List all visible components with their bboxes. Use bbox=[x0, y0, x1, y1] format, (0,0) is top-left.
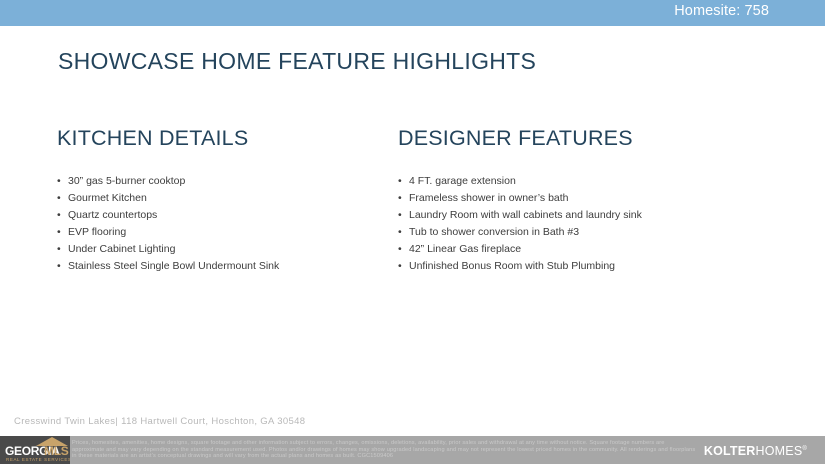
list-item-label: 42” Linear Gas fireplace bbox=[409, 243, 521, 255]
list-item: • Stainless Steel Single Bowl Undermount… bbox=[57, 258, 387, 275]
list-item: • Gourmet Kitchen bbox=[57, 190, 387, 207]
georgia-mls-logo: GEORGIA MLS REAL ESTATE SERVICES bbox=[0, 436, 70, 464]
designer-features-list: • 4 FT. garage extension • Frameless sho… bbox=[398, 173, 758, 275]
bullet-icon: • bbox=[398, 190, 402, 207]
mls-logo-secondary-text: MLS bbox=[44, 445, 68, 457]
top-header-bar: Homesite: 758 bbox=[0, 0, 825, 26]
bullet-icon: • bbox=[57, 207, 61, 224]
bullet-icon: • bbox=[398, 224, 402, 241]
list-item-label: 4 FT. garage extension bbox=[409, 175, 516, 187]
bullet-icon: • bbox=[398, 258, 402, 275]
list-item: • Unfinished Bonus Room with Stub Plumbi… bbox=[398, 258, 758, 275]
bullet-icon: • bbox=[398, 173, 402, 190]
bullet-icon: • bbox=[398, 241, 402, 258]
list-item-label: Laundry Room with wall cabinets and laun… bbox=[409, 209, 642, 221]
list-item: • Frameless shower in owner’s bath bbox=[398, 190, 758, 207]
designer-features-column: DESIGNER FEATURES • 4 FT. garage extensi… bbox=[398, 126, 758, 275]
presentation-slide: Homesite: 758 SHOWCASE HOME FEATURE HIGH… bbox=[0, 0, 825, 464]
kolter-logo-regular-text: HOMES bbox=[756, 444, 803, 458]
bullet-icon: • bbox=[57, 190, 61, 207]
legal-disclaimer: Prices, homesites, amenities, home desig… bbox=[72, 440, 698, 460]
list-item: • Tub to shower conversion in Bath #3 bbox=[398, 224, 758, 241]
list-item: • 42” Linear Gas fireplace bbox=[398, 241, 758, 258]
list-item-label: Tub to shower conversion in Bath #3 bbox=[409, 226, 579, 238]
list-item-label: 30” gas 5-burner cooktop bbox=[68, 175, 185, 187]
page-title: SHOWCASE HOME FEATURE HIGHLIGHTS bbox=[58, 48, 536, 75]
list-item: • 4 FT. garage extension bbox=[398, 173, 758, 190]
list-item: • Quartz countertops bbox=[57, 207, 387, 224]
list-item-label: EVP flooring bbox=[68, 226, 126, 238]
bullet-icon: • bbox=[398, 207, 402, 224]
kitchen-details-column: KITCHEN DETAILS • 30” gas 5-burner cookt… bbox=[57, 126, 387, 275]
list-item-label: Gourmet Kitchen bbox=[68, 192, 147, 204]
list-item: • Laundry Room with wall cabinets and la… bbox=[398, 207, 758, 224]
list-item-label: Quartz countertops bbox=[68, 209, 157, 221]
list-item-label: Under Cabinet Lighting bbox=[68, 243, 175, 255]
list-item-label: Unfinished Bonus Room with Stub Plumbing bbox=[409, 260, 615, 272]
list-item: • 30” gas 5-burner cooktop bbox=[57, 173, 387, 190]
bullet-icon: • bbox=[57, 241, 61, 258]
homesite-label: Homesite: 758 bbox=[674, 3, 769, 19]
kitchen-details-list: • 30” gas 5-burner cooktop • Gourmet Kit… bbox=[57, 173, 387, 275]
list-item: • EVP flooring bbox=[57, 224, 387, 241]
bullet-icon: • bbox=[57, 173, 61, 190]
community-address: Cresswind Twin Lakes| 118 Hartwell Court… bbox=[14, 416, 305, 427]
list-item: • Under Cabinet Lighting bbox=[57, 241, 387, 258]
kolter-homes-logo: KOLTERHOMES® bbox=[704, 444, 807, 458]
mls-logo-tagline: REAL ESTATE SERVICES bbox=[6, 457, 70, 462]
trademark-icon: ® bbox=[802, 446, 807, 452]
bullet-icon: • bbox=[57, 258, 61, 275]
kolter-logo-bold-text: KOLTER bbox=[704, 444, 756, 458]
list-item-label: Stainless Steel Single Bowl Undermount S… bbox=[68, 260, 279, 272]
bullet-icon: • bbox=[57, 224, 61, 241]
list-item-label: Frameless shower in owner’s bath bbox=[409, 192, 569, 204]
kitchen-details-heading: KITCHEN DETAILS bbox=[57, 126, 387, 151]
designer-features-heading: DESIGNER FEATURES bbox=[398, 126, 758, 151]
